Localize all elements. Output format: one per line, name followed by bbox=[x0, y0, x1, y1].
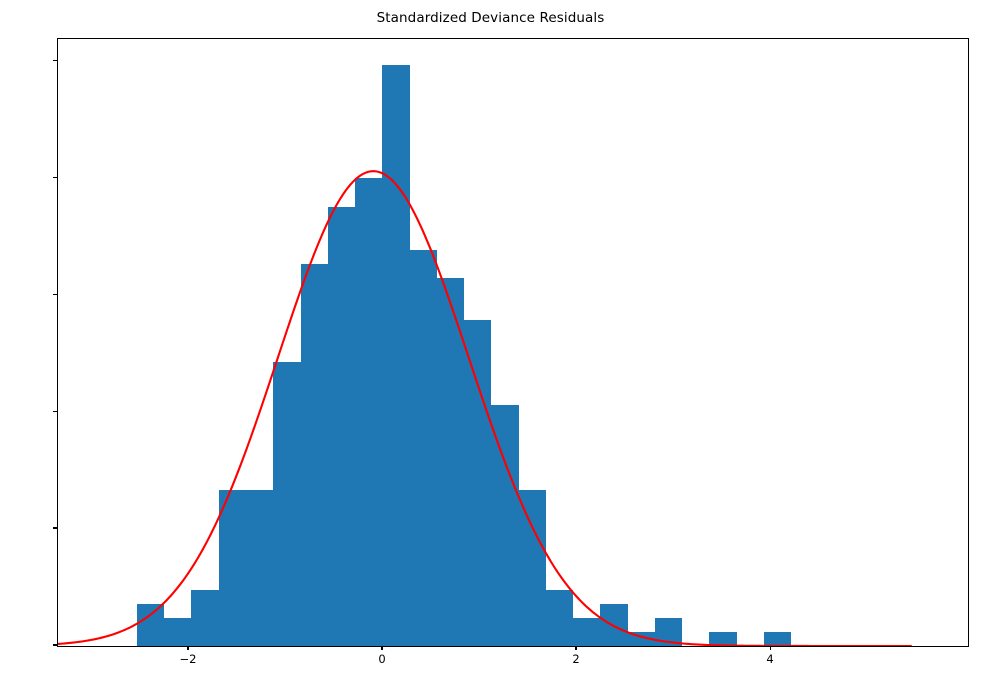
plot-area bbox=[57, 38, 969, 647]
page-title: Standardized Deviance Residuals bbox=[0, 10, 981, 26]
normal-density-curve bbox=[58, 39, 968, 646]
x-axis-tick-mark bbox=[770, 646, 771, 650]
x-axis-tick-mark bbox=[381, 646, 382, 650]
figure-canvas: Standardized Deviance Residuals 0.00.10.… bbox=[0, 0, 981, 682]
plot-inner bbox=[58, 39, 968, 646]
x-axis-tick-label: 2 bbox=[556, 652, 596, 666]
normal-curve-path bbox=[58, 171, 912, 646]
x-axis-tick-mark bbox=[575, 646, 576, 650]
x-axis-tick-label: 4 bbox=[750, 652, 790, 666]
x-axis-ticks: −2024 bbox=[0, 646, 981, 682]
x-axis-tick-mark bbox=[187, 646, 188, 650]
x-axis-tick-label: 0 bbox=[362, 652, 402, 666]
x-axis-tick-label: −2 bbox=[168, 652, 208, 666]
